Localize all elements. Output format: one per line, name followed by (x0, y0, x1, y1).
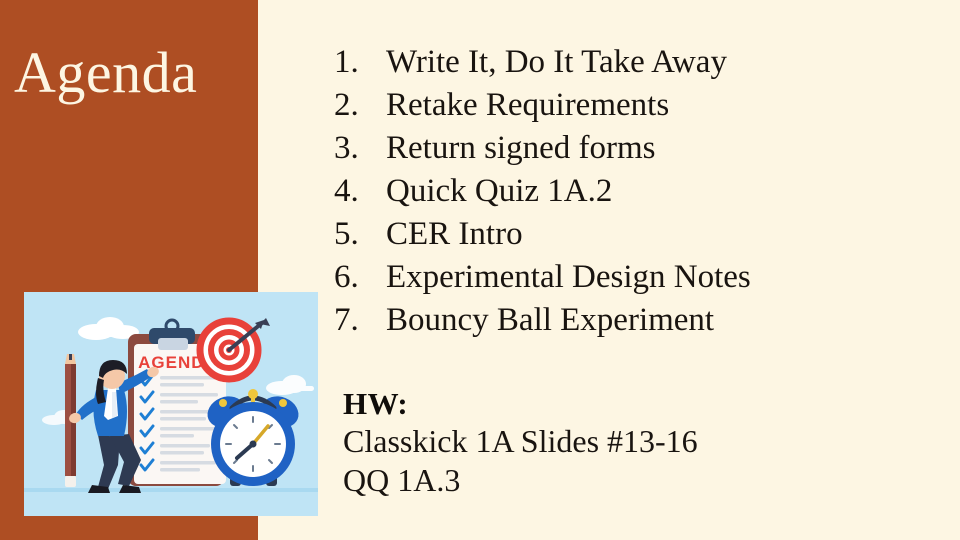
list-item: 3. Return signed forms (334, 127, 934, 170)
homework-line: QQ 1A.3 (343, 461, 923, 500)
homework-line: Classkick 1A Slides #13-16 (343, 422, 923, 461)
list-item: 5. CER Intro (334, 213, 934, 256)
list-item-label: Bouncy Ball Experiment (386, 299, 714, 342)
page-title: Agenda (14, 40, 254, 106)
list-item: 1. Write It, Do It Take Away (334, 41, 934, 84)
list-item: 6. Experimental Design Notes (334, 256, 934, 299)
list-item-label: Retake Requirements (386, 84, 669, 127)
list-item-number: 2. (334, 84, 386, 127)
list-item-number: 3. (334, 127, 386, 170)
list-item: 2. Retake Requirements (334, 84, 934, 127)
list-item-label: Experimental Design Notes (386, 256, 751, 299)
list-item-label: CER Intro (386, 213, 523, 256)
list-item-number: 4. (334, 170, 386, 213)
list-item-label: Quick Quiz 1A.2 (386, 170, 612, 213)
list-item-number: 1. (334, 41, 386, 84)
agenda-illustration: AGENDA (24, 292, 318, 516)
homework-block: HW: Classkick 1A Slides #13-16 QQ 1A.3 (343, 386, 923, 500)
list-item-number: 5. (334, 213, 386, 256)
ground-line (24, 488, 318, 492)
slide-canvas: Agenda (0, 0, 960, 540)
list-item-label: Write It, Do It Take Away (386, 41, 727, 84)
list-item-label: Return signed forms (386, 127, 655, 170)
agenda-list: 1. Write It, Do It Take Away 2. Retake R… (334, 41, 934, 342)
list-item: 7. Bouncy Ball Experiment (334, 299, 934, 342)
list-item: 4. Quick Quiz 1A.2 (334, 170, 934, 213)
list-item-number: 6. (334, 256, 386, 299)
homework-label: HW: (343, 386, 923, 422)
list-item-number: 7. (334, 299, 386, 342)
